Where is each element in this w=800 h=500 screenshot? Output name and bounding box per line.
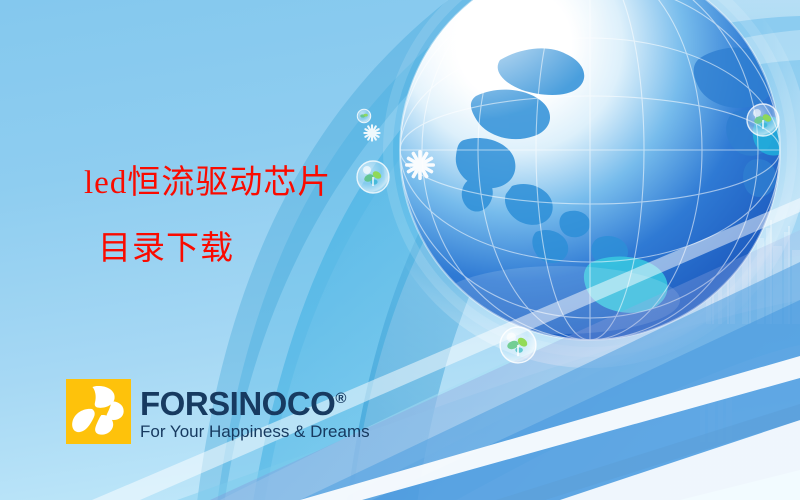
bubble-pinwheel-icon — [500, 327, 536, 363]
asterisk-sparkle-icon — [363, 124, 380, 141]
page-title: led恒流驱动芯片 目录下载 — [84, 160, 331, 272]
four-petal-pinwheel-flower-icon — [66, 379, 131, 444]
globe-icon — [360, 0, 800, 368]
registered-trademark-icon: ® — [335, 390, 346, 407]
bubble-group — [357, 104, 779, 363]
bubble-pinwheel-icon — [747, 104, 779, 136]
logo-wordmark: FORSINOCO® — [140, 382, 370, 420]
bubble-pinwheel-icon — [357, 109, 370, 122]
bubble-pinwheel-icon — [357, 161, 389, 193]
logo-wordmark-text: FORSINOCO — [140, 385, 335, 422]
company-logo: FORSINOCO® For Your Happiness & Dreams — [66, 379, 370, 444]
promotional-banner: led恒流驱动芯片 目录下载 FORSINOCO® For Your Happi… — [0, 0, 800, 500]
title-line-2: 目录下载 — [98, 226, 331, 272]
cityscape-silhouette-icon — [700, 220, 800, 442]
title-line-1: led恒流驱动芯片 — [84, 160, 331, 206]
asterisk-sparkle-icon — [405, 150, 435, 180]
logo-tagline: For Your Happiness & Dreams — [140, 422, 370, 442]
sparkle-group — [363, 124, 435, 180]
